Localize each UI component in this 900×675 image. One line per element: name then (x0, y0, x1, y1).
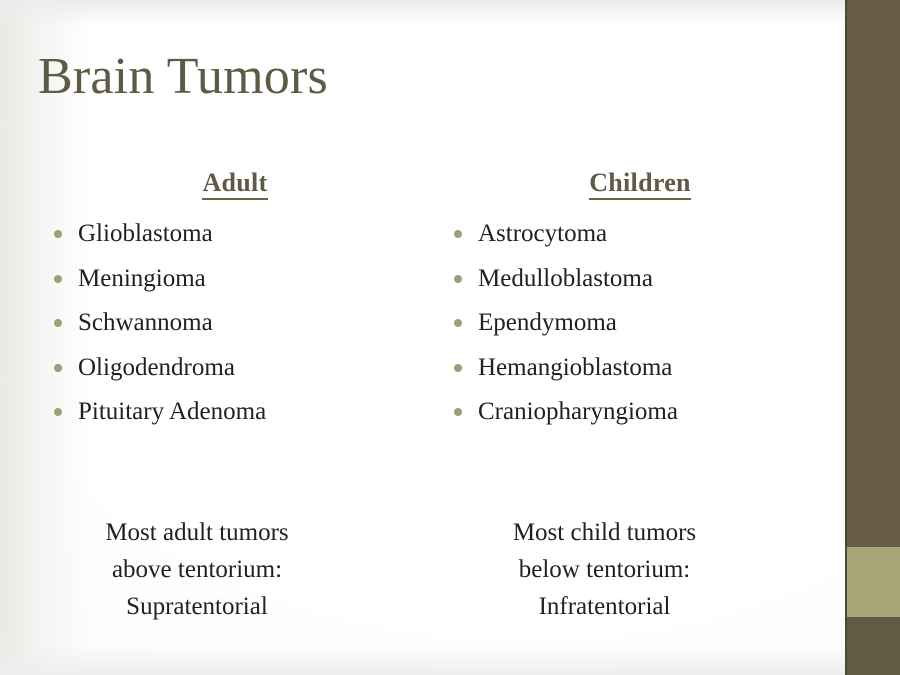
list-item-label: Ependymoma (478, 309, 617, 336)
list-item-label: Schwannoma (78, 309, 213, 336)
column-heading-children-text: Children (589, 168, 691, 200)
list-item: Craniopharyngioma (440, 390, 840, 435)
bullet-dot-icon (454, 319, 462, 327)
list-item: Pituitary Adenoma (40, 390, 430, 435)
bullet-dot-icon (54, 319, 62, 327)
list-item-label: Astrocytoma (478, 220, 607, 247)
note-children-line-2: below tentorium: (447, 551, 762, 588)
tumor-list-children: Astrocytoma Medulloblastoma Ependymoma H… (440, 212, 840, 435)
note-adult-line-3: Supratentorial (42, 588, 352, 625)
list-item-label: Craniopharyngioma (478, 398, 678, 425)
list-item-label: Hemangioblastoma (478, 354, 672, 381)
note-adult-line-1: Most adult tumors (42, 514, 352, 551)
list-item: Astrocytoma (440, 212, 840, 257)
column-heading-adult: Adult (40, 168, 430, 198)
list-item: Medulloblastoma (440, 257, 840, 302)
bullet-dot-icon (454, 275, 462, 283)
note-adult-line-2: above tentorium: (42, 551, 352, 588)
sidebar-segment-middle (847, 547, 900, 617)
note-adult: Most adult tumors above tentorium: Supra… (42, 514, 352, 625)
column-heading-adult-text: Adult (202, 168, 267, 200)
column-children: Children Astrocytoma Medulloblastoma Epe… (440, 168, 840, 435)
sidebar-segment-top (847, 0, 900, 547)
list-item-label: Meningioma (78, 265, 206, 292)
column-adult: Adult Glioblastoma Meningioma Schwannoma… (40, 168, 430, 435)
list-item-label: Medulloblastoma (478, 265, 653, 292)
background-top-gradient (0, 0, 847, 26)
bullet-dot-icon (454, 364, 462, 372)
list-item-label: Pituitary Adenoma (78, 398, 266, 425)
bullet-dot-icon (454, 408, 462, 416)
list-item: Meningioma (40, 257, 430, 302)
bullet-dot-icon (54, 230, 62, 238)
bullet-dot-icon (54, 275, 62, 283)
note-children: Most child tumors below tentorium: Infra… (447, 514, 762, 625)
note-children-line-3: Infratentorial (447, 588, 762, 625)
list-item: Oligodendroma (40, 346, 430, 391)
background-bottom-gradient (0, 645, 847, 675)
slide-title: Brain Tumors (38, 48, 328, 105)
bullet-dot-icon (454, 230, 462, 238)
list-item: Schwannoma (40, 301, 430, 346)
decorative-sidebar (845, 0, 900, 675)
bullet-dot-icon (54, 408, 62, 416)
sidebar-segment-bottom (847, 617, 900, 675)
list-item: Glioblastoma (40, 212, 430, 257)
list-item: Ependymoma (440, 301, 840, 346)
bullet-dot-icon (54, 364, 62, 372)
note-children-line-1: Most child tumors (447, 514, 762, 551)
slide-canvas: Brain Tumors Adult Glioblastoma Meningio… (0, 0, 900, 675)
tumor-list-adult: Glioblastoma Meningioma Schwannoma Oligo… (40, 212, 430, 435)
list-item-label: Glioblastoma (78, 220, 213, 247)
column-heading-children: Children (440, 168, 840, 198)
list-item-label: Oligodendroma (78, 354, 235, 381)
list-item: Hemangioblastoma (440, 346, 840, 391)
